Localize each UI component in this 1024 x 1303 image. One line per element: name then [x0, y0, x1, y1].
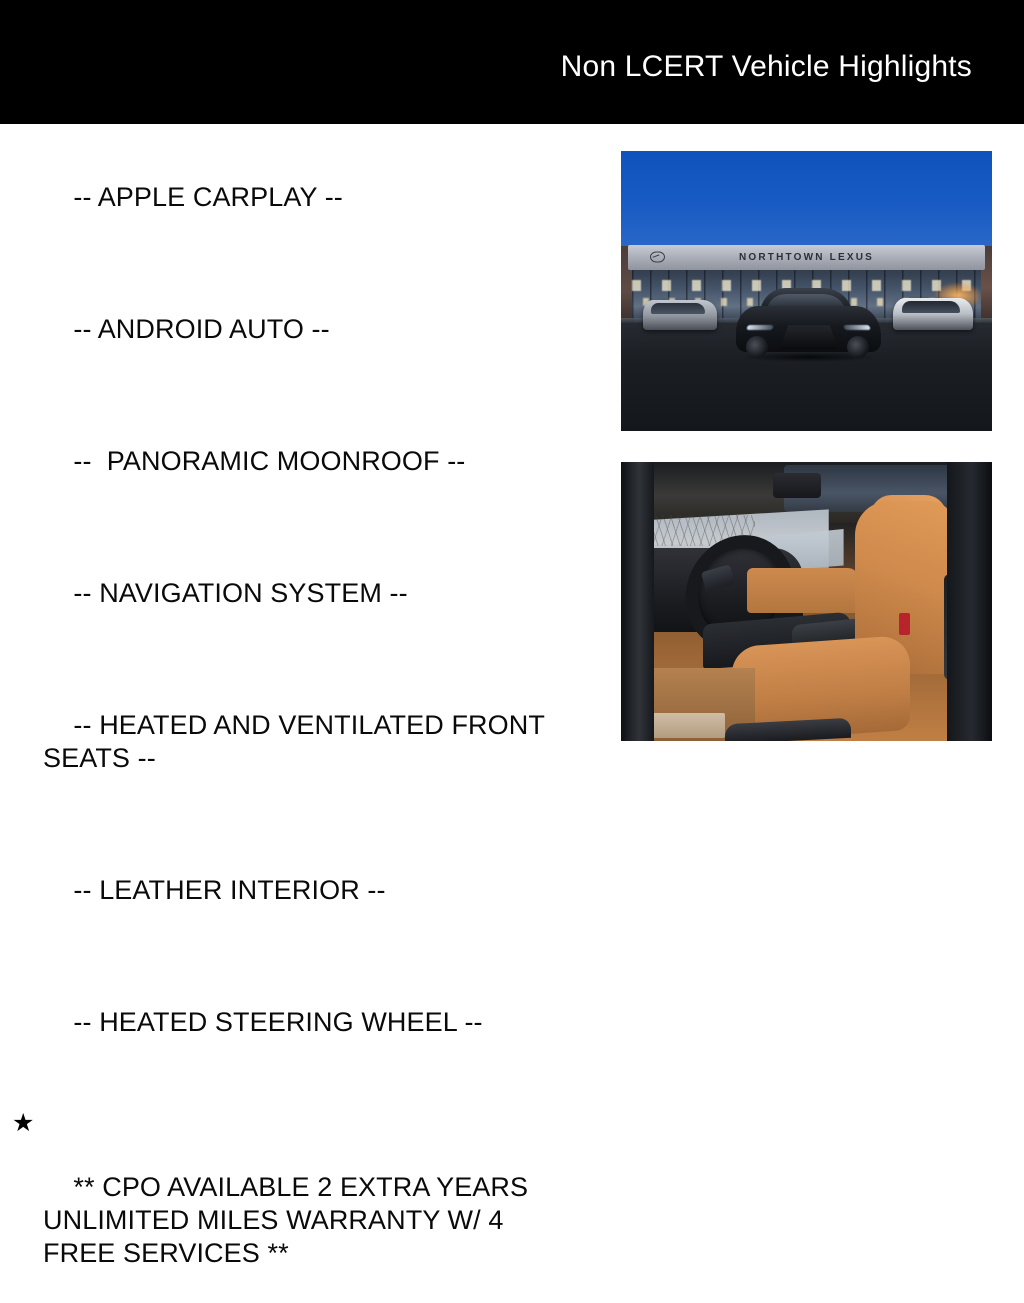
highlight-text: -- ANDROID AUTO --	[73, 314, 329, 344]
door-panel-left	[621, 462, 654, 741]
header-bar: Non LCERT Vehicle Highlights	[0, 0, 1024, 124]
highlight-text: -- LEATHER INTERIOR --	[73, 875, 385, 905]
rear-seat	[747, 568, 858, 613]
list-item: -- APPLE CARPLAY --	[0, 148, 600, 247]
highlight-text: -- HEATED AND VENTILATED FRONT SEATS --	[43, 710, 552, 773]
featured-vehicle	[736, 286, 881, 358]
door-panel-right	[947, 462, 992, 741]
list-item-cpo: ★ ** CPO AVAILABLE 2 EXTRA YEARS UNLIMIT…	[0, 1105, 600, 1303]
rearview-mirror	[773, 473, 821, 498]
highlight-text: -- PANORAMIC MOONROOF --	[73, 446, 465, 476]
vehicle-grille	[780, 325, 838, 349]
list-item: -- HEATED STEERING WHEEL --	[0, 973, 600, 1072]
vehicle-highlights-list: -- APPLE CARPLAY -- -- ANDROID AUTO -- -…	[0, 124, 600, 768]
highlight-text: -- NAVIGATION SYSTEM --	[73, 578, 407, 608]
parked-vehicle-left	[643, 300, 717, 330]
dealership-sign-text: NORTHTOWN LEXUS	[628, 245, 984, 270]
highlight-text: ** CPO AVAILABLE 2 EXTRA YEARS UNLIMITED…	[43, 1172, 536, 1268]
list-item: -- ANDROID AUTO --	[0, 280, 600, 379]
dealership-exterior-photo: NORTHTOWN LEXUS	[621, 151, 992, 431]
list-item: -- LEATHER INTERIOR --	[0, 841, 600, 940]
highlight-text: -- HEATED STEERING WHEEL --	[73, 1007, 482, 1037]
vehicle-headlight-left	[746, 325, 773, 330]
vehicle-headlight-right	[843, 325, 870, 330]
highlight-text: -- APPLE CARPLAY --	[73, 182, 343, 212]
star-icon: ★	[12, 1107, 35, 1140]
vehicle-interior-photo	[621, 462, 992, 741]
list-item: -- HEATED AND VENTILATED FRONT SEATS --	[0, 676, 600, 808]
dealership-sign: NORTHTOWN LEXUS	[628, 245, 984, 270]
list-item: -- PANORAMIC MOONROOF --	[0, 412, 600, 511]
seatbelt-buckle	[899, 613, 911, 635]
list-item: -- NAVIGATION SYSTEM --	[0, 544, 600, 643]
page-title: Non LCERT Vehicle Highlights	[561, 50, 972, 84]
parked-vehicle-right	[893, 298, 973, 330]
